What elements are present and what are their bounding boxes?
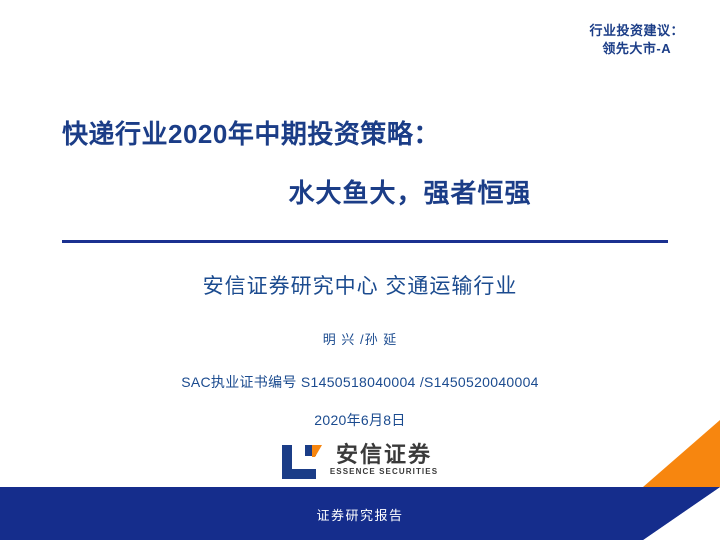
- title-line-primary: 快递行业2020年中期投资策略：: [62, 118, 668, 151]
- title-divider: [62, 240, 668, 243]
- logo-name-en: ESSENCE SECURITIES: [330, 468, 438, 476]
- page-title: 快递行业2020年中期投资策略： 水大鱼大，强者恒强: [62, 118, 668, 209]
- rating-value: 领先大市-A: [589, 40, 684, 58]
- slide-canvas: 行业投资建议： 领先大市-A 快递行业2020年中期投资策略： 水大鱼大，强者恒…: [0, 0, 720, 540]
- industry-rating-block: 行业投资建议： 领先大市-A: [589, 22, 684, 57]
- logo-name-cn: 安信证券: [336, 443, 432, 466]
- rating-label: 行业投资建议：: [589, 22, 684, 40]
- title-line-secondary: 水大鱼大，强者恒强: [62, 177, 668, 210]
- authors-line: 明 兴 /孙 延: [0, 329, 720, 348]
- footer-label: 证券研究报告: [0, 505, 720, 524]
- company-logo: 安信证券 ESSENCE SECURITIES: [0, 443, 720, 479]
- report-date: 2020年6月8日: [0, 410, 720, 430]
- sac-certificate-line: SAC执业证书编号 S1450518040004 /S1450520040004: [0, 372, 720, 392]
- essence-bracket-icon: [282, 445, 322, 479]
- organization-line: 安信证券研究中心 交通运输行业: [0, 270, 720, 300]
